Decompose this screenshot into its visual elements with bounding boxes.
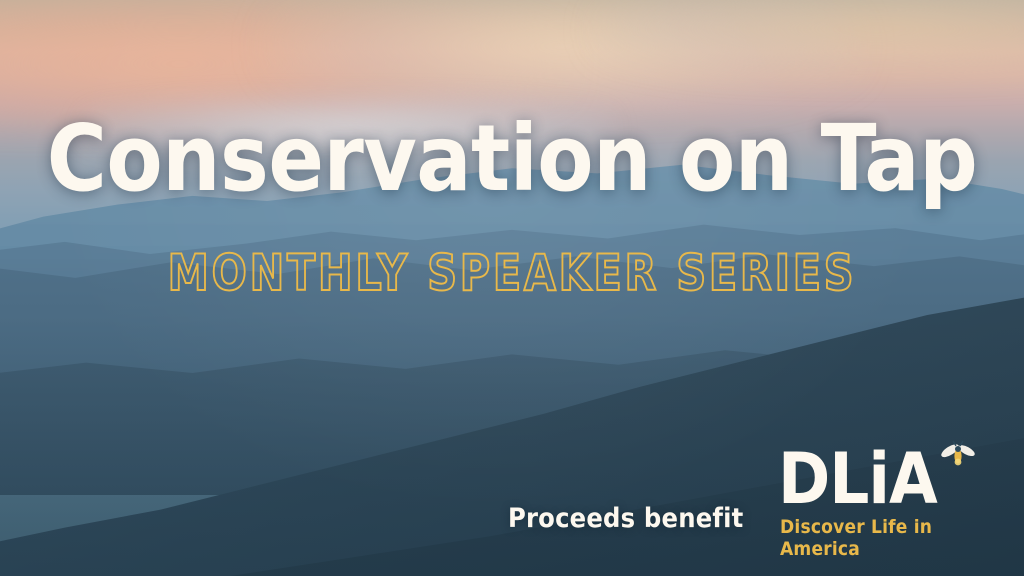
dlia-logo: DLiA Discover Life in America <box>772 440 984 542</box>
dlia-tagline: Discover Life in America <box>780 516 984 560</box>
dlia-wordmark: DLiA <box>778 444 937 514</box>
poster-subheadline: MONTHLY SPEAKER SERIES <box>41 248 983 298</box>
proceeds-benefit-label: Proceeds benefit <box>508 503 743 534</box>
poster-headline: Conservation on Tap <box>5 112 1019 206</box>
firefly-icon <box>938 436 978 476</box>
poster-content: Conservation on Tap MONTHLY SPEAKER SERI… <box>0 0 1024 576</box>
event-poster: Conservation on Tap MONTHLY SPEAKER SERI… <box>0 0 1024 576</box>
